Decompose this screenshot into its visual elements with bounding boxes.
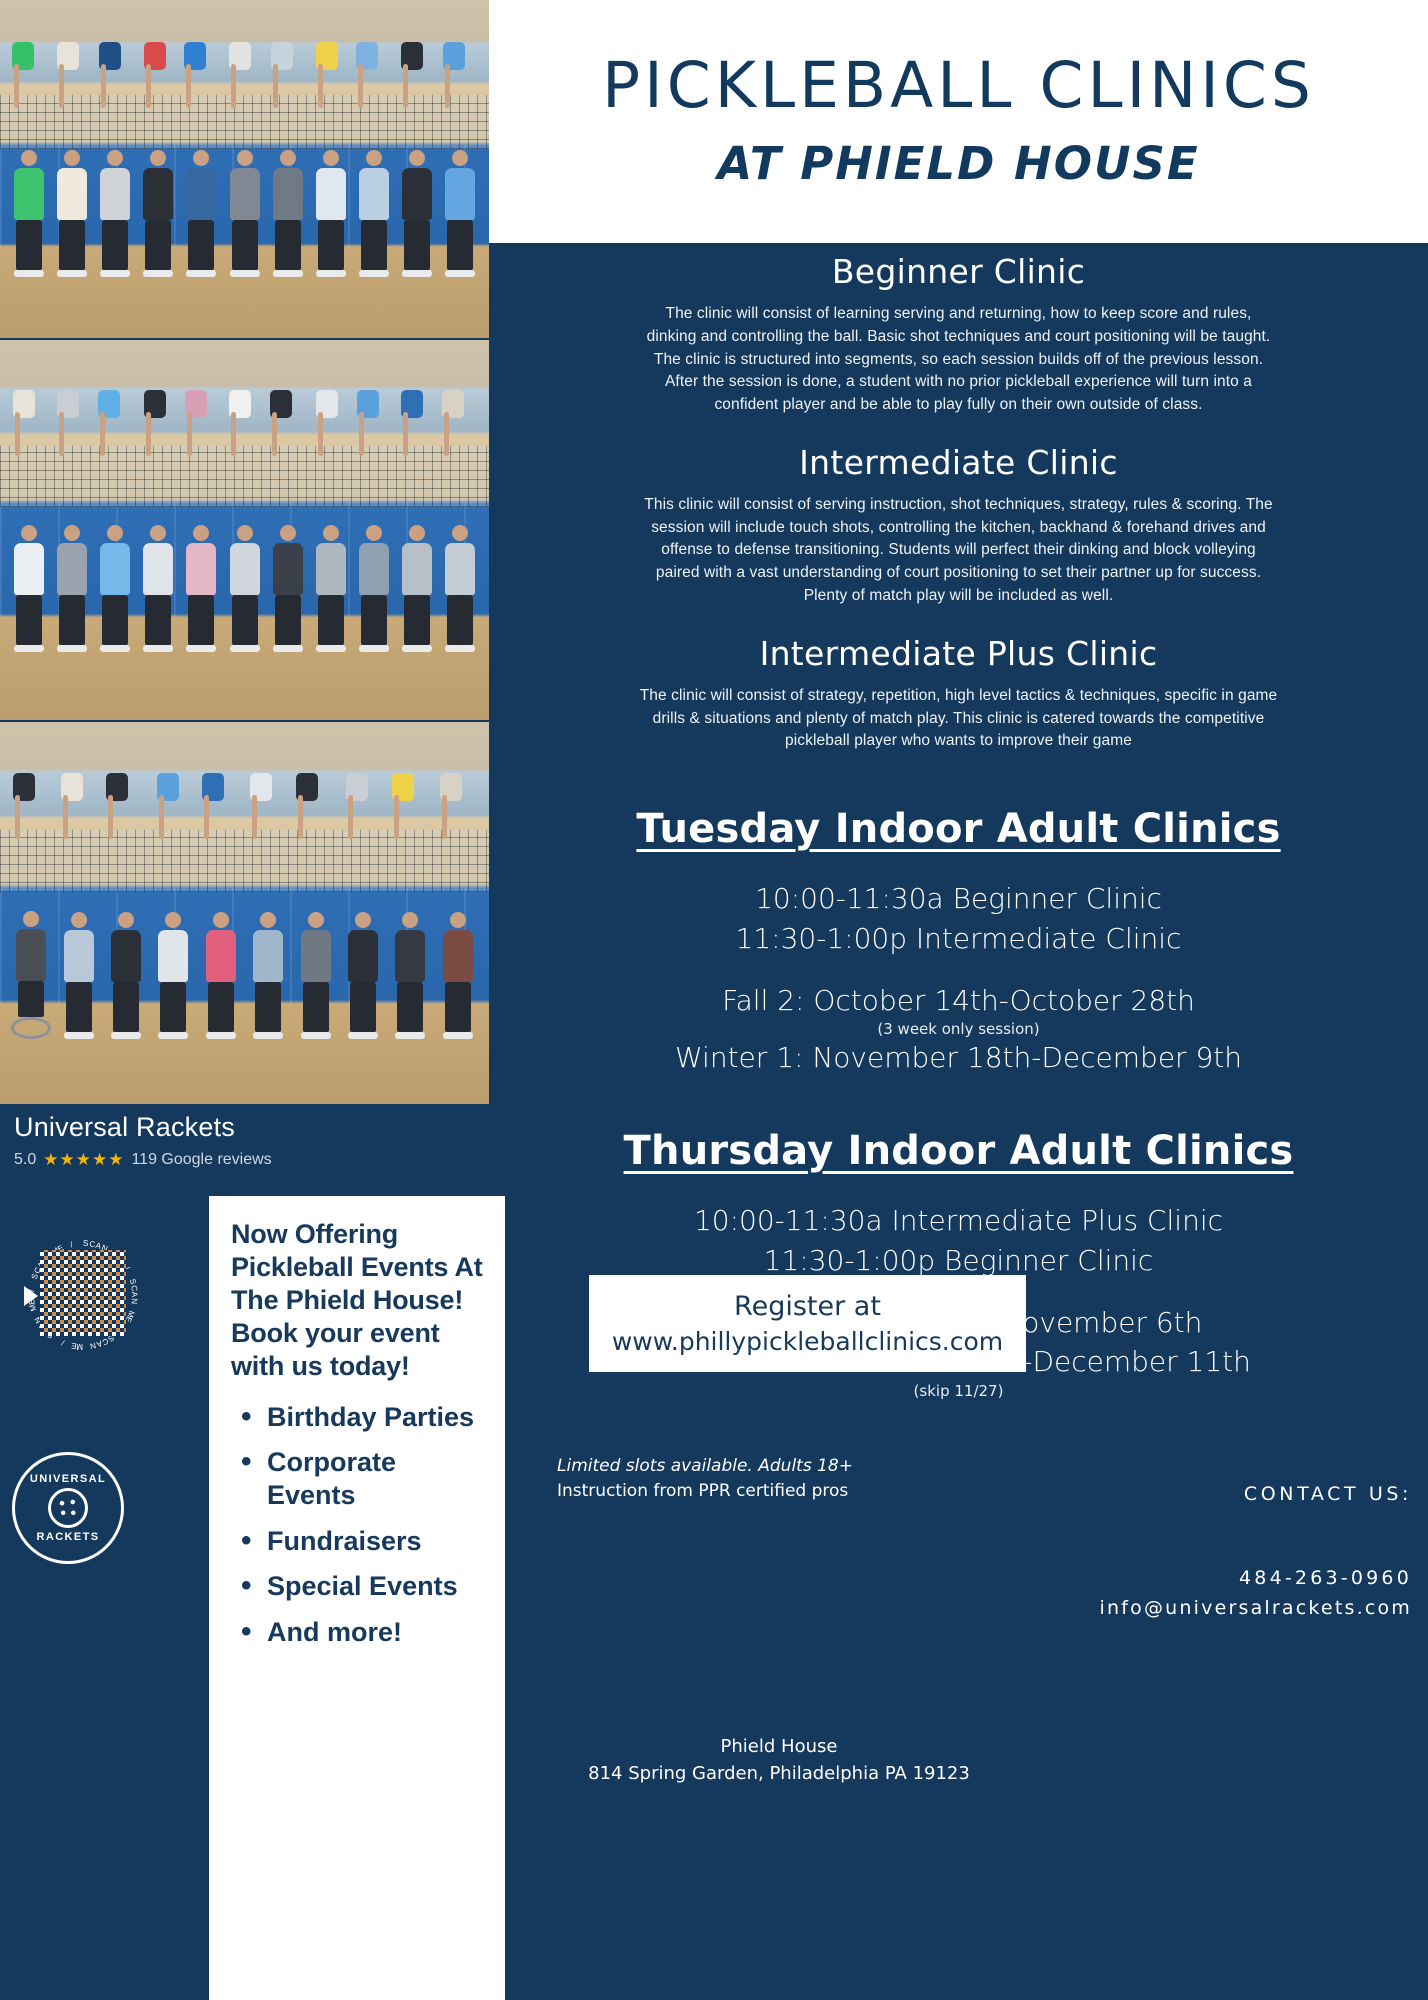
group-photo-1 [0, 0, 489, 338]
person [268, 416, 307, 652]
register-label: Register at [734, 1291, 881, 1322]
person [311, 68, 350, 278]
star-rating-icon: ★★★★★ [43, 1150, 124, 1170]
group-photo-3 [0, 722, 489, 1108]
person [268, 68, 307, 278]
group-photo-2 [0, 340, 489, 720]
person [389, 799, 432, 1038]
schedule-heading-thursday: Thursday Indoor Adult Clinics [489, 1128, 1428, 1174]
tuesday-time-2: 11:30-1:00p Intermediate Clinic [489, 919, 1428, 959]
person [397, 68, 436, 278]
venue-address-block: Phield House 814 Spring Garden, Philadel… [529, 1733, 1029, 1787]
list-item: And more! [231, 1616, 487, 1649]
person [246, 799, 289, 1038]
clinic-heading-intermediate-plus: Intermediate Plus Clinic [489, 634, 1428, 673]
footer-notes: Limited slots available. Adults 18+ Inst… [557, 1456, 997, 1501]
person [10, 416, 49, 652]
person [311, 416, 350, 652]
list-item: Birthday Parties [231, 1401, 487, 1434]
events-promo-box: Now Offering Pickleball Events At The Ph… [209, 1196, 505, 2000]
people-group [10, 68, 479, 278]
person [199, 799, 242, 1038]
clinic-body-beginner: The clinic will consist of learning serv… [639, 303, 1279, 417]
qr-code-block[interactable]: SCAN ME / SCAN ME / SCAN ME / SCAN ME / … [18, 1232, 193, 1357]
person [225, 68, 264, 278]
person-wheelchair [10, 799, 53, 1038]
register-box[interactable]: Register at www.phillypickleballclinics.… [589, 1275, 1026, 1372]
person [104, 799, 147, 1038]
events-heading: Now Offering Pickleball Events At The Ph… [231, 1218, 487, 1383]
person [139, 68, 178, 278]
list-item: Fundraisers [231, 1525, 487, 1558]
review-count: 119 Google reviews [131, 1151, 271, 1169]
logo-bottom-text: RACKETS [37, 1531, 100, 1543]
list-item: Special Events [231, 1570, 487, 1603]
person [354, 68, 393, 278]
limited-slots-note: Limited slots available. Adults 18+ [557, 1456, 997, 1476]
people-group [10, 799, 479, 1038]
instruction-note: Instruction from PPR certified pros [557, 1481, 997, 1501]
person [440, 68, 479, 278]
right-content: Beginner Clinic The clinic will consist … [489, 243, 1428, 2000]
contact-label: CONTACT US: [1100, 1483, 1412, 1505]
header-band: PICKLEBALL CLINICS AT PHIELD HOUSE [489, 0, 1428, 243]
person [182, 68, 221, 278]
rating-row: 5.0 ★★★★★ 119 Google reviews [14, 1150, 475, 1170]
universal-rackets-logo: UNIVERSAL RACKETS [12, 1452, 124, 1564]
person [152, 799, 195, 1038]
register-url[interactable]: www.phillypickleballclinics.com [612, 1327, 1003, 1356]
person [341, 799, 384, 1038]
google-review-strip: Universal Rackets 5.0 ★★★★★ 119 Google r… [0, 1104, 489, 1184]
person [96, 416, 135, 652]
list-item: Corporate Events [231, 1446, 487, 1511]
thursday-session-2-note: (skip 11/27) [489, 1382, 1428, 1400]
logo-top-text: UNIVERSAL [30, 1473, 106, 1485]
rating-value: 5.0 [14, 1151, 36, 1169]
person [10, 68, 49, 278]
person [96, 68, 135, 278]
pickleball-icon [48, 1488, 88, 1528]
clinic-heading-beginner: Beginner Clinic [489, 252, 1428, 291]
flyer-root: Universal Rackets 5.0 ★★★★★ 119 Google r… [0, 0, 1428, 2000]
contact-email[interactable]: info@universalrackets.com [1100, 1597, 1412, 1619]
page-title: PICKLEBALL CLINICS [602, 53, 1315, 119]
person [354, 416, 393, 652]
person [440, 416, 479, 652]
person [225, 416, 264, 652]
people-group [10, 416, 479, 652]
tuesday-session-1: Fall 2: October 14th-October 28th [489, 981, 1428, 1021]
person [53, 416, 92, 652]
person [436, 799, 479, 1038]
qr-code-icon[interactable] [40, 1250, 126, 1336]
events-list: Birthday PartiesCorporate EventsFundrais… [231, 1401, 487, 1649]
venue-address: 814 Spring Garden, Philadelphia PA 19123 [529, 1760, 1029, 1787]
person [139, 416, 178, 652]
tuesday-session-1-note: (3 week only session) [489, 1020, 1428, 1038]
thursday-time-1: 10:00-11:30a Intermediate Plus Clinic [489, 1201, 1428, 1241]
person [182, 416, 221, 652]
contact-block: CONTACT US: 484-263-0960 info@universalr… [1100, 1483, 1412, 1619]
play-triangle-icon [24, 1286, 38, 1306]
clinic-body-intermediate-plus: The clinic will consist of strategy, rep… [639, 685, 1279, 753]
contact-phone[interactable]: 484-263-0960 [1100, 1567, 1412, 1589]
schedule-heading-tuesday: Tuesday Indoor Adult Clinics [489, 806, 1428, 852]
photo-column [0, 0, 489, 1108]
person [57, 799, 100, 1038]
page-subtitle: AT PHIELD HOUSE [717, 137, 1199, 190]
venue-name: Phield House [529, 1733, 1029, 1760]
person [294, 799, 337, 1038]
person [53, 68, 92, 278]
tuesday-time-1: 10:00-11:30a Beginner Clinic [489, 879, 1428, 919]
person [397, 416, 436, 652]
business-name: Universal Rackets [14, 1112, 475, 1143]
clinic-heading-intermediate: Intermediate Clinic [489, 443, 1428, 482]
clinic-body-intermediate: This clinic will consist of serving inst… [639, 494, 1279, 608]
tuesday-session-2: Winter 1: November 18th-December 9th [489, 1038, 1428, 1078]
